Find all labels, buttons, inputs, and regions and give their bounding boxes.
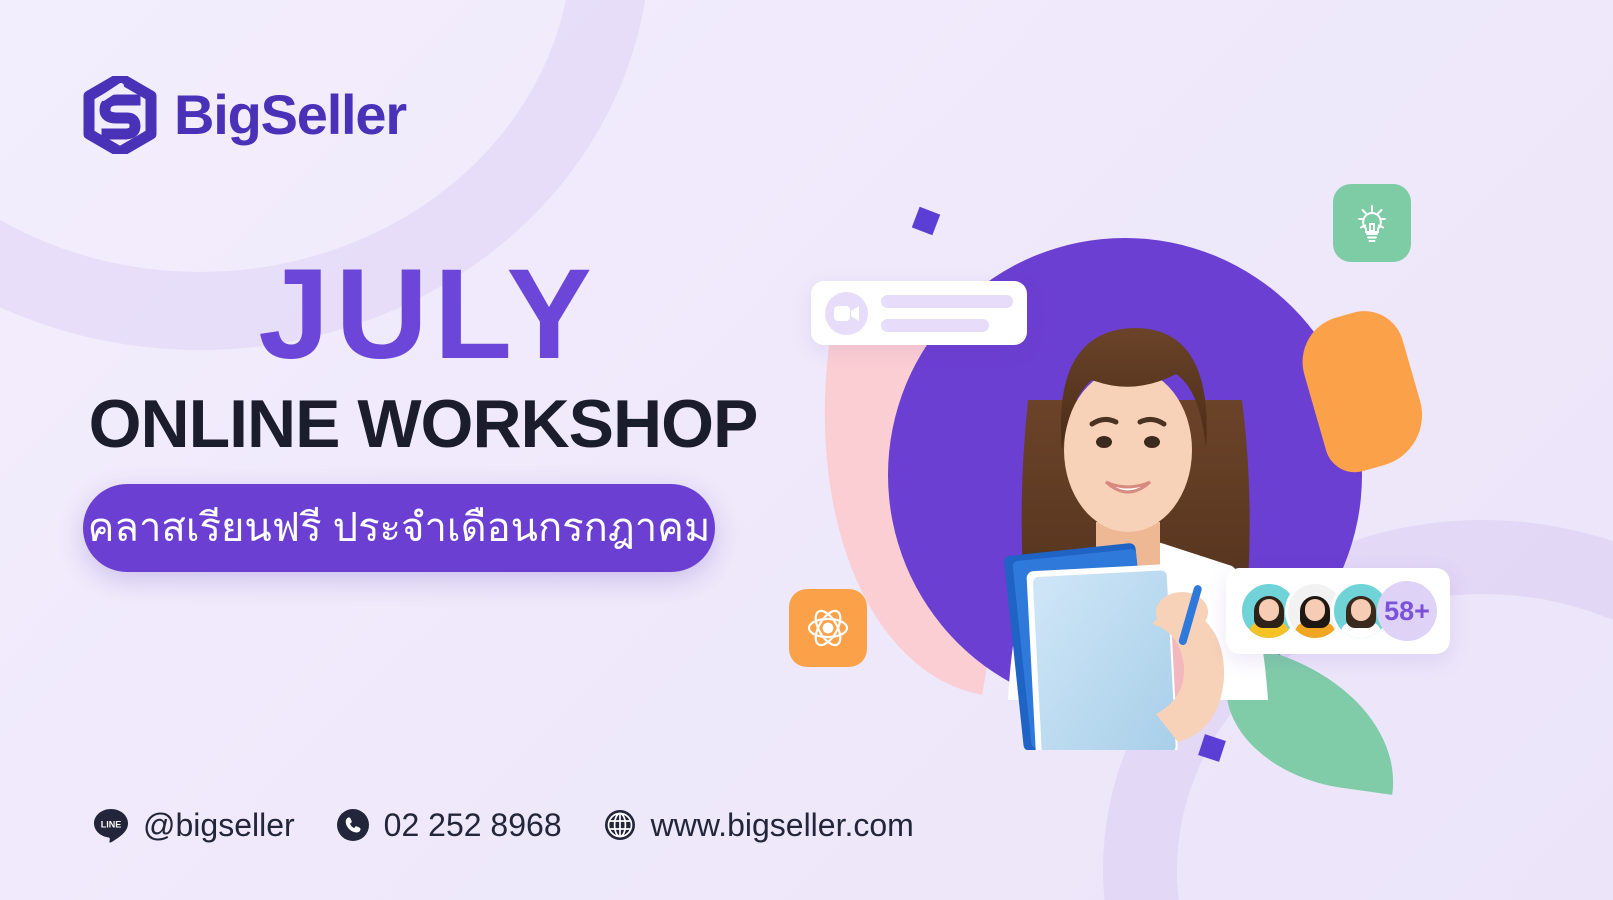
placeholder-bars bbox=[881, 295, 1013, 332]
brand-wordmark: BigSeller bbox=[174, 87, 406, 143]
line-icon: LINE bbox=[92, 806, 130, 844]
svg-text:LINE: LINE bbox=[101, 820, 122, 830]
contact-website[interactable]: www.bigseller.com bbox=[602, 807, 914, 843]
globe-icon bbox=[602, 807, 638, 843]
phone-icon bbox=[335, 807, 371, 843]
student-photo bbox=[920, 150, 1340, 750]
atom-badge bbox=[789, 589, 867, 667]
month-title: JULY bbox=[83, 250, 763, 381]
video-camera-icon bbox=[834, 305, 859, 322]
contact-phone[interactable]: 02 252 8968 bbox=[335, 807, 562, 843]
contact-line-label: @bigseller bbox=[143, 809, 295, 841]
thai-promo-pill[interactable]: คลาสเรียนฟรี ประจำเดือนกรกฎาคม bbox=[83, 484, 715, 572]
video-icon-wrapper bbox=[825, 292, 868, 335]
avatar-count-badge: 58+ bbox=[1377, 581, 1437, 641]
contact-line[interactable]: LINE @bigseller bbox=[92, 806, 295, 844]
placeholder-bar-2 bbox=[881, 319, 989, 332]
brand-logo[interactable]: BigSeller bbox=[83, 76, 406, 154]
workshop-subtitle: ONLINE WORKSHOP bbox=[83, 389, 763, 460]
contact-phone-label: 02 252 8968 bbox=[384, 809, 562, 841]
footer-contact-row: LINE @bigseller 02 252 8968 www.bigselle… bbox=[92, 806, 914, 844]
headline-block: JULY ONLINE WORKSHOP คลาสเรียนฟรี ประจำเ… bbox=[83, 250, 763, 572]
avatar-group-card: 58+ bbox=[1226, 568, 1450, 654]
video-call-card bbox=[811, 281, 1027, 345]
bigseller-hexagon-logo-icon bbox=[83, 76, 157, 154]
atom-icon bbox=[803, 603, 853, 653]
placeholder-bar-1 bbox=[881, 295, 1013, 308]
contact-website-label: www.bigseller.com bbox=[651, 809, 914, 841]
lightbulb-icon bbox=[1348, 199, 1396, 247]
promo-banner: BigSeller JULY ONLINE WORKSHOP คลาสเรียน… bbox=[0, 0, 1613, 900]
lightbulb-badge bbox=[1333, 184, 1411, 262]
